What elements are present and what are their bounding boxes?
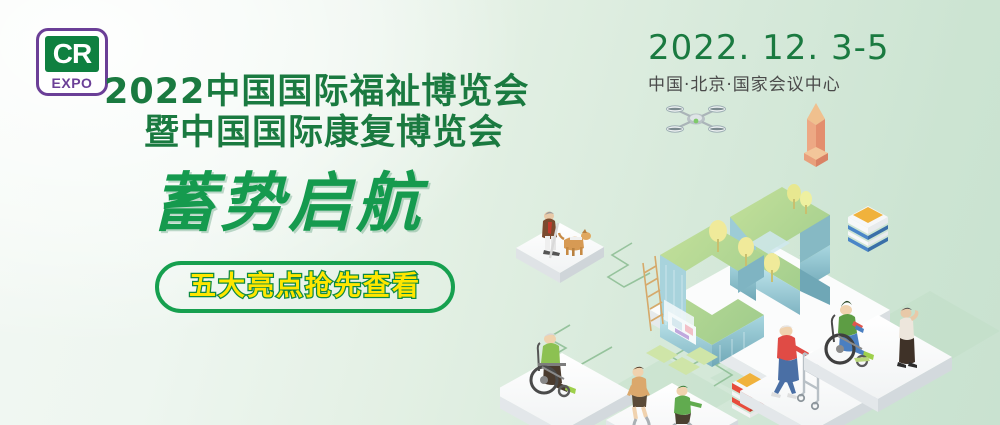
event-venue: 中国·北京·国家会议中心 — [648, 74, 841, 96]
platform-guide-dog — [516, 212, 604, 284]
platform-wheelchair-solo — [500, 333, 632, 425]
obelisk-tower — [804, 103, 828, 167]
highlights-cta-button[interactable]: 五大亮点抢先查看 — [155, 261, 455, 313]
striped-stack-box-blue — [848, 206, 888, 252]
logo-green-square: CR — [45, 36, 99, 72]
headline-slogan: 蓄势启航 — [152, 168, 552, 240]
quadcopter-drone — [667, 106, 726, 132]
event-date: 2022. 12. 3-5 — [648, 28, 890, 68]
event-title-line2: 暨中国国际康复博览会 — [104, 113, 544, 154]
isometric-illustration — [500, 95, 1000, 425]
cr-expo-logo[interactable]: CR EXPO — [36, 28, 108, 96]
expo-banner: CR EXPO 2022中国国际福祉博览会 暨中国国际康复博览会 蓄势启航 五大… — [0, 0, 1000, 425]
logo-expo-text: EXPO — [52, 75, 93, 91]
highlights-cta-label: 五大亮点抢先查看 — [189, 272, 421, 302]
logo-cr-text: CR — [53, 40, 91, 68]
